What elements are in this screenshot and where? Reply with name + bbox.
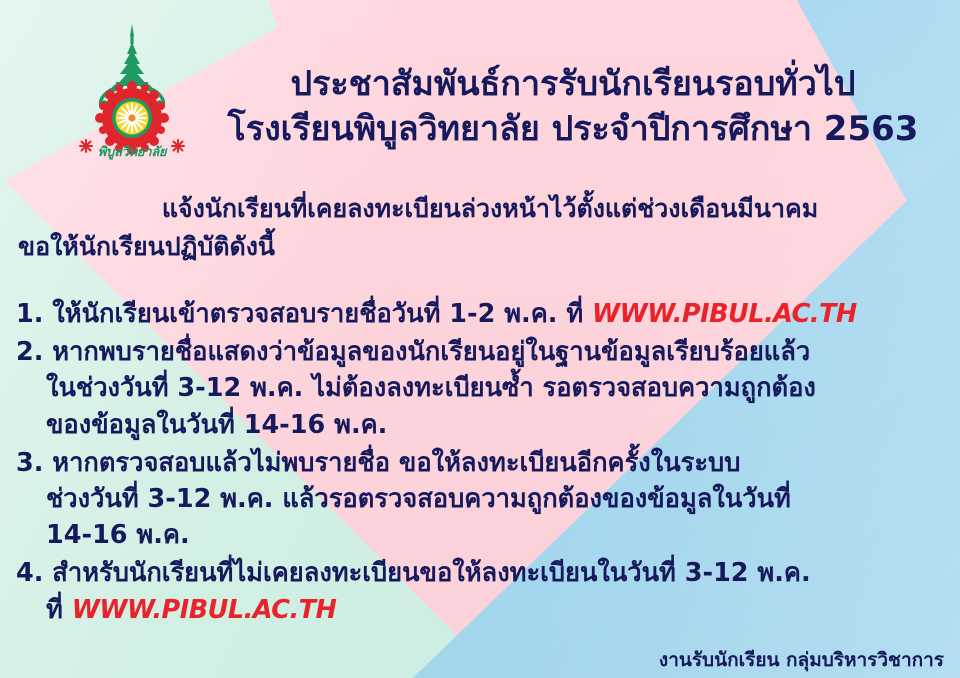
footer-credit: งานรับนักเรียน กลุ่มบริหารวิชาการ <box>659 649 944 672</box>
list-item-line: 1. ให้นักเรียนเข้าตรวจสอบรายชื่อวันที่ 1… <box>16 296 950 332</box>
subtitle-line-2: ขอให้นักเรียนปฏิบัติดังนี้ <box>12 228 948 266</box>
list-item-line: 14-16 พ.ค. <box>16 517 950 553</box>
list-item-line: 3. หากตรวจสอบแล้วไม่พบรายชื่อ ขอให้ลงทะเ… <box>16 445 950 481</box>
sun-center-icon <box>128 114 135 121</box>
school-logo: พิบูลวิทยาลัย <box>72 18 192 178</box>
list-item: 3. หากตรวจสอบแล้วไม่พบรายชื่อ ขอให้ลงทะเ… <box>16 445 950 554</box>
website-link[interactable]: WWW.PIBUL.AC.TH <box>72 595 337 625</box>
list-item-text: 1. ให้นักเรียนเข้าตรวจสอบรายชื่อวันที่ 1… <box>16 299 592 329</box>
subtitle-block: แจ้งนักเรียนที่เคยลงทะเบียนล่วงหน้าไว้ตั… <box>12 190 948 266</box>
subtitle-line-1: แจ้งนักเรียนที่เคยลงทะเบียนล่วงหน้าไว้ตั… <box>12 190 948 228</box>
title-line-1: ประชาสัมพันธ์การรับนักเรียนรอบทั่วไป <box>200 62 946 107</box>
website-link[interactable]: WWW.PIBUL.AC.TH <box>592 299 857 329</box>
list-item: 1. ให้นักเรียนเข้าตรวจสอบรายชื่อวันที่ 1… <box>16 296 950 332</box>
list-item-line: 4. สำหรับนักเรียนที่ไม่เคยลงทะเบียนขอให้… <box>16 555 950 591</box>
list-item-line: ในช่วงวันที่ 3-12 พ.ค. ไม่ต้องลงทะเบียนซ… <box>16 370 950 406</box>
list-item-text: ที่ <box>46 595 72 625</box>
list-item: 2. หากพบรายชื่อแสดงว่าข้อมูลของนักเรียนอ… <box>16 334 950 443</box>
logo-caption: พิบูลวิทยาลัย <box>72 146 192 159</box>
list-item-line: ช่วงวันที่ 3-12 พ.ค. แล้วรอตรวจสอบความถู… <box>16 481 950 517</box>
list-item-line: ของข้อมูลในวันที่ 14-16 พ.ค. <box>16 407 950 443</box>
title-line-2: โรงเรียนพิบูลวิทยาลัย ประจำปีการศึกษา 25… <box>200 107 946 152</box>
page-title: ประชาสัมพันธ์การรับนักเรียนรอบทั่วไป โรง… <box>200 62 946 152</box>
list-item-line: 2. หากพบรายชื่อแสดงว่าข้อมูลของนักเรียนอ… <box>16 334 950 370</box>
announcement-poster: พิบูลวิทยาลัย ประชาสัมพันธ์การรับนักเรีย… <box>0 0 960 678</box>
list-item: 4. สำหรับนักเรียนที่ไม่เคยลงทะเบียนขอให้… <box>16 555 950 627</box>
list-item-line: ที่ WWW.PIBUL.AC.TH <box>16 592 950 628</box>
instruction-list: 1. ให้นักเรียนเข้าตรวจสอบรายชื่อวันที่ 1… <box>16 296 950 630</box>
